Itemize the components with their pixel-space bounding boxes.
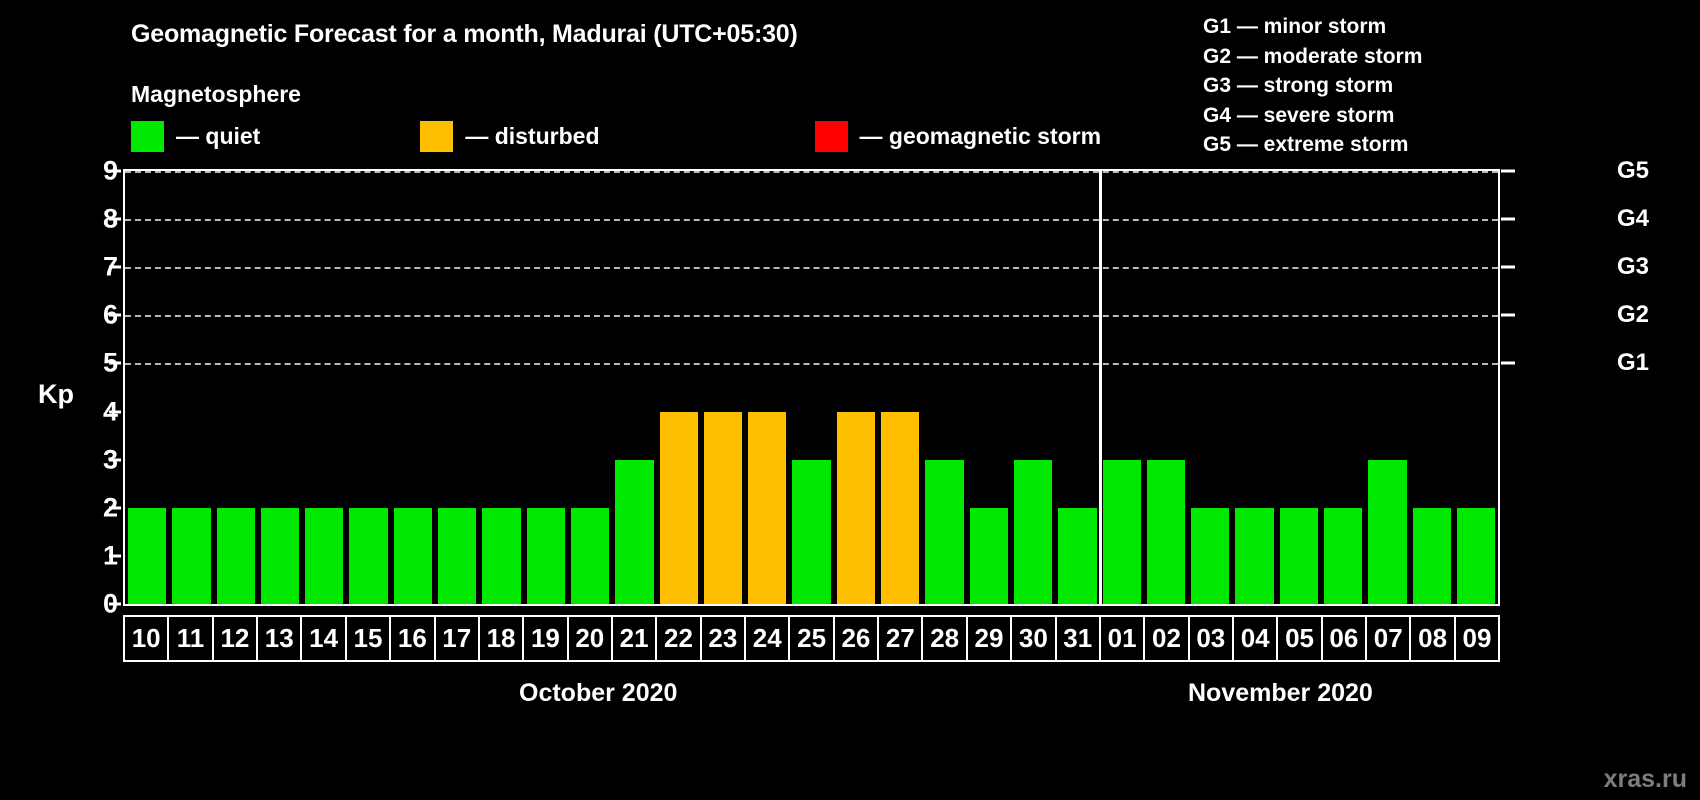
month-divider-line xyxy=(1099,171,1102,604)
g-tick-mark-G1 xyxy=(1501,362,1515,365)
y-tick-mark-9 xyxy=(109,170,121,173)
legend-swatch-quiet xyxy=(131,121,164,152)
bar-17 xyxy=(438,508,476,604)
bar-cell xyxy=(1055,171,1099,604)
g-scale-line-2: G2 — moderate storm xyxy=(1203,42,1422,72)
bar-cell xyxy=(524,171,568,604)
bar-06 xyxy=(1324,508,1362,604)
g-tick-G1: G1 xyxy=(1617,349,1649,377)
page-title: Geomagnetic Forecast for a month, Madura… xyxy=(131,20,798,49)
date-label-21: 21 xyxy=(613,617,657,660)
legend-swatch-disturbed xyxy=(420,121,453,152)
g-scale-legend: G1 — minor stormG2 — moderate stormG3 — … xyxy=(1203,12,1422,160)
bar-21 xyxy=(615,460,653,604)
date-label-22: 22 xyxy=(657,617,701,660)
date-label-20: 20 xyxy=(569,617,613,660)
date-label-28: 28 xyxy=(923,617,967,660)
bar-cell xyxy=(258,171,302,604)
bar-07 xyxy=(1368,460,1406,604)
bar-05 xyxy=(1280,508,1318,604)
date-label-03: 03 xyxy=(1190,617,1234,660)
date-label-29: 29 xyxy=(968,617,1012,660)
bar-cell xyxy=(878,171,922,604)
legend-label-storm: — geomagnetic storm xyxy=(860,123,1102,150)
bar-08 xyxy=(1413,508,1451,604)
month-label-november: November 2020 xyxy=(1188,679,1373,708)
date-label-10: 10 xyxy=(125,617,169,660)
date-label-01: 01 xyxy=(1101,617,1145,660)
bar-31 xyxy=(1058,508,1096,604)
g-tick-G4: G4 xyxy=(1617,205,1649,233)
g-scale-line-3: G3 — strong storm xyxy=(1203,71,1422,101)
g-tick-mark-G3 xyxy=(1501,266,1515,269)
bar-02 xyxy=(1147,460,1185,604)
legend-label-quiet: — quiet xyxy=(176,123,260,150)
bar-cell xyxy=(1100,171,1144,604)
watermark: xras.ru xyxy=(1604,765,1687,794)
bar-cell xyxy=(1011,171,1055,604)
bar-cell xyxy=(701,171,745,604)
bar-23 xyxy=(704,412,742,604)
bar-11 xyxy=(172,508,210,604)
y-tick-mark-4 xyxy=(109,410,121,413)
g-tick-G2: G2 xyxy=(1617,301,1649,329)
date-axis: 1011121314151617181920212223242526272829… xyxy=(123,615,1500,662)
bar-cell xyxy=(745,171,789,604)
bar-cell xyxy=(479,171,523,604)
bar-04 xyxy=(1235,508,1273,604)
date-label-12: 12 xyxy=(214,617,258,660)
y-tick-mark-0 xyxy=(109,603,121,606)
legend-item-disturbed: — disturbed xyxy=(420,121,599,152)
legend-swatch-storm xyxy=(815,121,848,152)
bar-24 xyxy=(748,412,786,604)
y-tick-mark-2 xyxy=(109,506,121,509)
legend-item-storm: — geomagnetic storm xyxy=(815,121,1102,152)
magnetosphere-legend: — quiet— disturbed— geomagnetic storm xyxy=(131,121,1101,152)
bar-cell xyxy=(568,171,612,604)
bar-03 xyxy=(1191,508,1229,604)
bar-cell xyxy=(1144,171,1188,604)
date-label-13: 13 xyxy=(258,617,302,660)
date-label-15: 15 xyxy=(347,617,391,660)
bar-28 xyxy=(925,460,963,604)
bar-13 xyxy=(261,508,299,604)
bar-01 xyxy=(1103,460,1141,604)
bar-29 xyxy=(970,508,1008,604)
g-scale-line-1: G1 — minor storm xyxy=(1203,12,1422,42)
bar-cell xyxy=(1454,171,1498,604)
date-label-26: 26 xyxy=(835,617,879,660)
date-label-27: 27 xyxy=(879,617,923,660)
date-label-31: 31 xyxy=(1057,617,1101,660)
bar-cell xyxy=(612,171,656,604)
bar-18 xyxy=(482,508,520,604)
y-tick-mark-8 xyxy=(109,218,121,221)
bar-cell xyxy=(657,171,701,604)
bar-25 xyxy=(792,460,830,604)
date-label-24: 24 xyxy=(746,617,790,660)
bar-cell xyxy=(1365,171,1409,604)
g-scale-line-4: G4 — severe storm xyxy=(1203,101,1422,131)
g-tick-G3: G3 xyxy=(1617,253,1649,281)
date-label-04: 04 xyxy=(1234,617,1278,660)
g-tick-mark-G5 xyxy=(1501,170,1515,173)
bar-15 xyxy=(349,508,387,604)
month-label-october: October 2020 xyxy=(519,679,677,708)
bar-cell xyxy=(169,171,213,604)
bar-27 xyxy=(881,412,919,604)
date-label-09: 09 xyxy=(1456,617,1498,660)
bar-cell xyxy=(346,171,390,604)
bar-cell xyxy=(302,171,346,604)
date-label-30: 30 xyxy=(1012,617,1056,660)
bar-cell xyxy=(1188,171,1232,604)
y-tick-mark-3 xyxy=(109,458,121,461)
y-tick-mark-6 xyxy=(109,314,121,317)
date-label-08: 08 xyxy=(1411,617,1455,660)
bar-cell xyxy=(789,171,833,604)
bar-09 xyxy=(1457,508,1495,604)
bar-cell xyxy=(391,171,435,604)
bar-cell xyxy=(1410,171,1454,604)
date-label-17: 17 xyxy=(436,617,480,660)
date-label-14: 14 xyxy=(302,617,346,660)
date-label-25: 25 xyxy=(790,617,834,660)
bar-series xyxy=(125,171,1498,604)
date-label-18: 18 xyxy=(480,617,524,660)
y-tick-mark-1 xyxy=(109,554,121,557)
bar-cell xyxy=(1232,171,1276,604)
bar-19 xyxy=(527,508,565,604)
y-tick-mark-5 xyxy=(109,362,121,365)
bar-20 xyxy=(571,508,609,604)
g-tick-G5: G5 xyxy=(1617,157,1649,185)
legend-label-disturbed: — disturbed xyxy=(465,123,599,150)
bar-cell xyxy=(214,171,258,604)
bar-cell xyxy=(1277,171,1321,604)
bar-10 xyxy=(128,508,166,604)
date-label-02: 02 xyxy=(1145,617,1189,660)
date-label-07: 07 xyxy=(1367,617,1411,660)
chart-subtitle: Magnetosphere xyxy=(131,81,301,108)
bar-cell xyxy=(1321,171,1365,604)
bar-cell xyxy=(922,171,966,604)
bar-22 xyxy=(660,412,698,604)
bar-cell xyxy=(125,171,169,604)
y-axis-label: Kp xyxy=(38,379,74,410)
chart-plot-area xyxy=(123,169,1500,606)
g-scale-line-5: G5 — extreme storm xyxy=(1203,130,1422,160)
date-label-05: 05 xyxy=(1278,617,1322,660)
bar-12 xyxy=(217,508,255,604)
bar-16 xyxy=(394,508,432,604)
bar-26 xyxy=(837,412,875,604)
bar-cell xyxy=(435,171,479,604)
bar-cell xyxy=(967,171,1011,604)
bar-cell xyxy=(834,171,878,604)
date-label-11: 11 xyxy=(169,617,213,660)
g-tick-mark-G2 xyxy=(1501,314,1515,317)
legend-item-quiet: — quiet xyxy=(131,121,260,152)
date-label-16: 16 xyxy=(391,617,435,660)
date-label-19: 19 xyxy=(524,617,568,660)
date-label-23: 23 xyxy=(702,617,746,660)
bar-30 xyxy=(1014,460,1052,604)
y-tick-mark-7 xyxy=(109,266,121,269)
date-label-06: 06 xyxy=(1323,617,1367,660)
bar-14 xyxy=(305,508,343,604)
g-tick-mark-G4 xyxy=(1501,218,1515,221)
